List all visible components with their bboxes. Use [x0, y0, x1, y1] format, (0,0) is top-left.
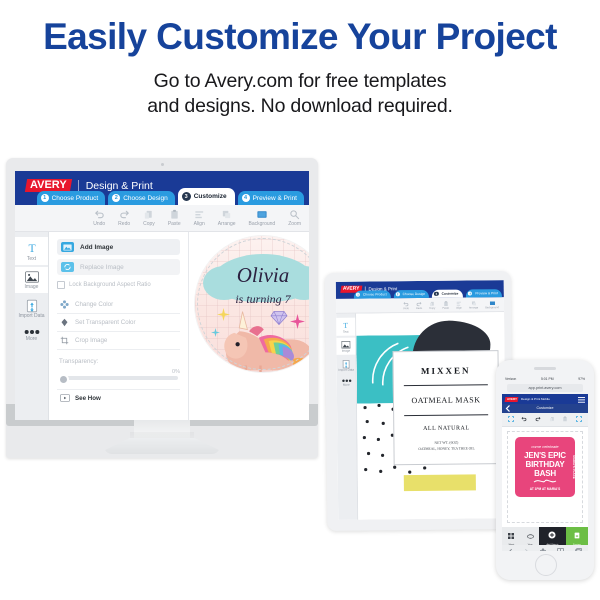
label-line-5: AT 1PM AT MARIA'S [515, 487, 575, 491]
browser-tabs-icon[interactable] [575, 542, 582, 552]
browser-bar: app.print.avery.com [502, 383, 588, 394]
browser-back-icon[interactable] [508, 542, 513, 552]
design-canvas[interactable]: Olivia is turning 7 [189, 232, 309, 420]
step-tab-choose-product[interactable]: 1 Choose Product [354, 290, 391, 298]
label-line-4: BASH [515, 469, 575, 478]
browser-bookmarks-icon[interactable] [557, 542, 564, 552]
toolbar-label: Redo [118, 221, 130, 227]
step-tabs: 1 Choose Product 2 Choose Design 3 Custo… [37, 188, 304, 205]
toolbar-button-arrange[interactable]: Arrange [218, 209, 236, 227]
toolbar-label: Copy [429, 306, 435, 309]
image-icon [341, 341, 350, 349]
text-icon: T [25, 241, 39, 255]
app-header: AVERY Design & Print 1 Choose Product 2 … [15, 171, 309, 205]
browser-share-icon[interactable] [540, 542, 546, 552]
plus-circle-icon [548, 526, 556, 544]
page-title: Easily Customize Your Project [0, 16, 600, 58]
toolbar-button-paste[interactable]: Paste [168, 209, 181, 227]
step-number: 1 [41, 194, 49, 202]
image-properties-panel: Add Image Replace Image Lock Background … [49, 232, 189, 420]
status-time: 5:01 PM [541, 377, 554, 381]
step-label: Preview & Print [253, 195, 297, 202]
redo-icon [119, 209, 130, 220]
step-tab-choose-design[interactable]: 2 Choose Design [394, 290, 430, 298]
step-number: 3 [434, 291, 439, 296]
rail-label: More [343, 383, 350, 387]
step-label: Choose Design [403, 292, 426, 296]
phone-design-canvas[interactable]: come celebrate JEN'S EPIC BIRTHDAY BASH … [502, 427, 588, 527]
toolbar-button-redo[interactable]: Redo [118, 209, 130, 227]
crop-image-row[interactable]: Crop Image [57, 332, 180, 350]
label-side-right: MARIA'S PLACE [572, 455, 575, 479]
replace-image-button[interactable]: Replace Image [57, 259, 180, 275]
step-number: 4 [242, 194, 250, 202]
transparency-label: Transparency: [59, 358, 180, 365]
label-line-3: BIRTHDAY [515, 460, 575, 469]
toolbar-label: Background [485, 306, 499, 309]
subtitle-line-2: and designs. No download required. [0, 95, 600, 118]
rail-item-text[interactable]: T Text [15, 237, 48, 265]
see-how-label: See How [75, 395, 101, 402]
step-tab-customize[interactable]: 3 Customize [432, 289, 463, 298]
copy-icon [143, 209, 154, 220]
arrange-icon [221, 209, 232, 220]
phone-avery-logo: AVERY Design & Print Mobile [505, 397, 550, 402]
toolbar-label: Align [194, 221, 205, 227]
rail-label: Import Data [18, 314, 44, 319]
monitor-screen: AVERY Design & Print 1 Choose Product 2 … [15, 171, 309, 420]
toolbar-button-redo[interactable]: Redo [416, 300, 422, 309]
editor-toolbar: Undo Redo Copy [15, 205, 309, 232]
checkbox-box [57, 281, 65, 289]
toolbar-button-background[interactable]: Background [485, 300, 499, 309]
toolbar-label: Arrange [469, 306, 478, 309]
step-label: Customize [442, 291, 459, 295]
back-arrow-icon[interactable] [505, 404, 511, 417]
mixxen-net-weight: NET WT. (6OZ) [394, 440, 498, 445]
lock-aspect-label: Lock Background Aspect Ratio [69, 282, 151, 288]
phone-app-header: AVERY Design & Print Mobile [502, 394, 588, 404]
editor-body: T Text Image [15, 232, 309, 420]
phone-device: Verizon 5:01 PM 97% app.print.avery.com … [496, 360, 594, 580]
rail-item-image[interactable]: Image [336, 338, 355, 355]
add-image-label: Add Image [80, 244, 113, 251]
transparency-slider[interactable] [59, 376, 178, 380]
divider-bottom [404, 414, 488, 416]
toolbar-label: Background [249, 221, 276, 227]
birthday-label-artwork[interactable]: come celebrate JEN'S EPIC BIRTHDAY BASH … [515, 437, 575, 497]
toolbar-label: Redo [416, 306, 422, 309]
divider-top [404, 384, 488, 386]
step-tab-preview-print[interactable]: 4 Preview & Print [466, 289, 502, 297]
toolbar-button-zoom[interactable]: Zoom [288, 209, 301, 227]
mixxen-brand: MIXXEN [394, 365, 498, 376]
avery-design-print-app: AVERY Design & Print 1 Choose Product 2 … [15, 171, 309, 420]
toolbar-button-arrange[interactable]: Arrange [469, 300, 478, 309]
label-side-left: 1-2-2021 [515, 461, 516, 473]
rail-label: Import Data [338, 369, 354, 372]
phone-status-bar: Verizon 5:01 PM 97% [502, 375, 588, 383]
mixxen-ingredients: OATMEAL, HONEY, TEA TREE OIL [394, 446, 498, 451]
rail-item-more[interactable]: More [337, 376, 356, 389]
flourish-divider [533, 478, 557, 485]
step-tab-preview-print[interactable]: 4 Preview & Print [238, 191, 304, 205]
label-cut-line [197, 238, 309, 370]
paste-icon [169, 209, 180, 220]
tablet-toolbar: Undo Redo Copy Paste [336, 297, 504, 314]
toolbar-label: Undo [403, 307, 409, 310]
phone-screen-title: Customize [537, 406, 554, 410]
image-icon [25, 271, 39, 283]
tool-rail: T Text Image [15, 232, 49, 420]
lock-aspect-ratio-checkbox[interactable]: Lock Background Aspect Ratio [57, 281, 180, 289]
mixxen-artwork[interactable]: MIXXEN OATMEAL MASK ALL NATURAL NET WT. … [356, 312, 506, 520]
avery-app-tablet: AVERY Design & Print 1 Choose Product 2 … [336, 280, 506, 520]
crop-image-label: Crop Image [75, 337, 107, 344]
toolbar-button-align[interactable]: Align [194, 209, 205, 227]
avery-logo-mark: AVERY [505, 397, 519, 402]
rail-label: Image [25, 284, 39, 290]
toolbar-label: Arrange [218, 221, 236, 227]
step-label: Choose Product [363, 292, 387, 296]
label-line-1: come celebrate [515, 444, 575, 449]
rail-label: Image [342, 349, 350, 353]
subtitle-line-1: Go to Avery.com for free templates [0, 70, 600, 93]
tablet-device: AVERY Design & Print 1 Choose Product 2 … [325, 271, 514, 531]
phone-browser-nav [502, 545, 588, 551]
play-video-icon [59, 394, 70, 402]
toolbar-button-background[interactable]: Background [249, 209, 276, 227]
phone-home-button[interactable] [535, 554, 557, 576]
toolbar-label: Paste [168, 221, 181, 227]
monitor-camera-icon [161, 163, 164, 166]
replace-image-label: Replace Image [80, 264, 124, 271]
rail-item-more[interactable]: More [15, 324, 48, 345]
rail-label: Text [27, 256, 36, 262]
toolbar-button-undo[interactable]: Undo [93, 209, 105, 227]
toolbar-button-undo[interactable]: Undo [403, 301, 409, 310]
promo-poster: Easily Customize Your Project Go to Aver… [0, 0, 600, 600]
set-transparent-color-icon [59, 318, 70, 327]
step-label: Preview & Print [475, 291, 498, 295]
step-number: 3 [182, 192, 191, 201]
phone-app-title: Design & Print Mobile [521, 397, 550, 401]
add-image-icon [61, 242, 74, 252]
rail-label: Text [343, 330, 349, 334]
tablet-screen: AVERY Design & Print 1 Choose Product 2 … [336, 280, 506, 520]
toolbar-label: Paste [442, 306, 449, 309]
background-icon [256, 209, 268, 220]
toolbar-label: Copy [143, 221, 155, 227]
more-dots-icon [24, 329, 40, 335]
tablet-design-canvas[interactable]: MIXXEN OATMEAL MASK ALL NATURAL NET WT. … [356, 312, 506, 520]
label-line-2: JEN'S EPIC [515, 451, 575, 460]
step-tab-customize[interactable]: 3 Customize [178, 188, 235, 205]
step-label: Choose Design [123, 195, 167, 202]
tablet-tool-rail: T Text Image Import Data [336, 314, 358, 520]
set-transparent-color-row[interactable]: Set Transparent Color [57, 314, 180, 332]
mixxen-product: OATMEAL MASK [394, 395, 498, 405]
tablet-app-header: AVERY Design & Print 1 Choose Product 2 … [336, 280, 504, 299]
transparency-value: 0% [57, 369, 180, 375]
rail-item-import-data[interactable]: Import Data [337, 357, 356, 374]
status-battery: 97% [578, 377, 585, 381]
mixxen-claim: ALL NATURAL [394, 425, 498, 432]
add-image-button[interactable]: Add Image [57, 239, 180, 255]
rail-item-image[interactable]: Image [15, 267, 48, 293]
status-carrier: Verizon [505, 377, 516, 381]
unicorn-label-artwork[interactable]: Olivia is turning 7 [195, 236, 309, 372]
browser-forward-icon[interactable] [524, 542, 529, 552]
replace-image-icon [61, 262, 74, 272]
step-label: Choose Product [52, 195, 99, 202]
set-transparent-color-label: Set Transparent Color [75, 319, 136, 326]
desktop-monitor: AVERY Design & Print 1 Choose Product 2 … [6, 158, 318, 458]
step-number: 1 [356, 293, 360, 297]
change-color-icon [59, 300, 70, 309]
rail-item-import-data[interactable]: Import Data [15, 295, 48, 322]
align-icon [194, 209, 205, 220]
step-tab-choose-design[interactable]: 2 Choose Design [108, 191, 174, 205]
import-data-icon [25, 299, 39, 313]
see-how-row[interactable]: See How [57, 389, 180, 406]
step-number: 2 [112, 194, 120, 202]
rail-item-text[interactable]: T Text [336, 318, 355, 336]
text-icon: T [341, 321, 350, 330]
change-color-label: Change Color [75, 301, 113, 308]
svg-text:T: T [28, 242, 35, 255]
step-number: 4 [468, 291, 472, 295]
url-bar[interactable]: app.print.avery.com [507, 384, 583, 392]
toolbar-button-copy[interactable]: Copy [429, 300, 435, 309]
crop-image-icon [59, 336, 70, 345]
toolbar-label: Zoom [288, 221, 301, 227]
svg-text:T: T [343, 321, 348, 330]
change-color-row[interactable]: Change Color [57, 296, 180, 314]
tablet-editor-body: T Text Image Import Data [336, 312, 506, 520]
phone-toolbar: Fit Undo Redo Copy Paste [502, 413, 588, 427]
toolbar-button-copy[interactable]: Copy [143, 209, 155, 227]
zoom-icon [289, 209, 300, 220]
toolbar-button-paste[interactable]: Paste [442, 300, 449, 309]
step-tab-choose-product[interactable]: 1 Choose Product [37, 191, 106, 205]
undo-icon [94, 209, 105, 220]
toolbar-label: Align [456, 306, 462, 309]
phone-screen-title-bar: Customize [502, 404, 588, 413]
toolbar-label: Undo [93, 221, 105, 227]
mixxen-label-card[interactable]: MIXXEN OATMEAL MASK ALL NATURAL NET WT. … [392, 350, 499, 465]
phone-speaker [534, 367, 556, 370]
toolbar-button-align[interactable]: Align [456, 300, 462, 309]
phone-screen: Verizon 5:01 PM 97% app.print.avery.com … [502, 375, 588, 551]
rail-label: More [26, 336, 37, 342]
step-label: Customize [194, 193, 227, 200]
tablet-step-tabs: 1 Choose Product 2 Choose Design 3 Custo… [354, 289, 502, 299]
slider-knob[interactable] [58, 374, 69, 385]
step-number: 2 [396, 292, 400, 296]
